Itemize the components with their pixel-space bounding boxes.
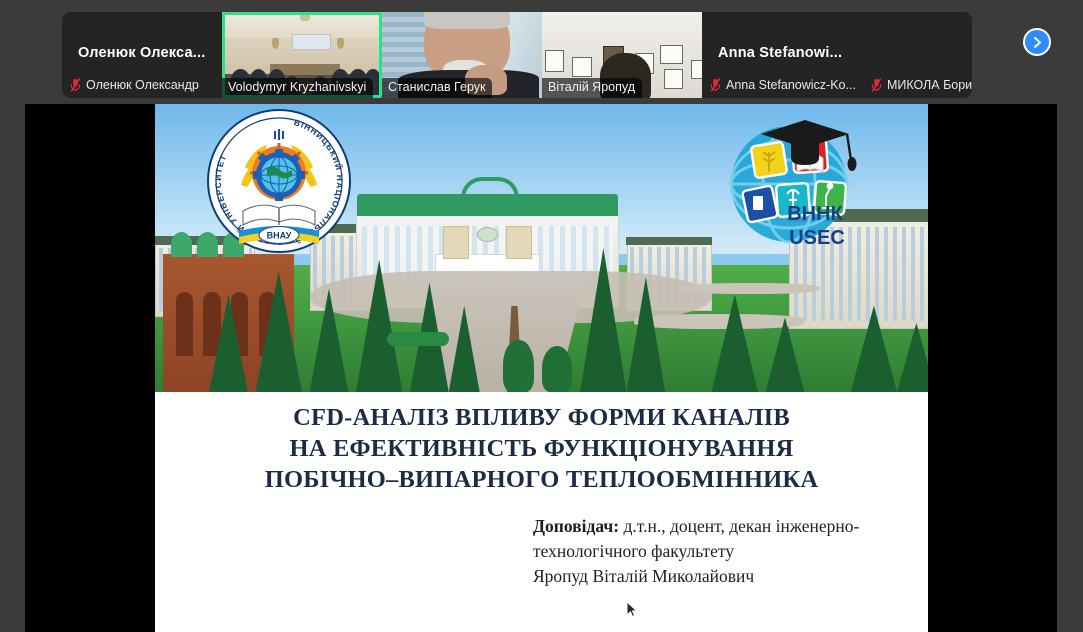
participant-tile-olenyuk[interactable]: Оленюк Олекса... Оленюк Олександр bbox=[62, 12, 222, 98]
mouse-pointer-icon bbox=[626, 601, 638, 619]
participant-large-name: Anna Stefanowi... bbox=[718, 45, 842, 61]
participant-tile-yaropud[interactable]: Віталій Яропуд bbox=[542, 12, 702, 98]
vnau-university-seal-logo: ВІННИЦЬКИЙ НАЦІОНАЛЬНИЙ АГРАРНИЙ УНІВЕРС… bbox=[205, 107, 353, 255]
participant-name-label: Станислав Герук bbox=[382, 78, 492, 98]
participant-name-text: Станислав Герук bbox=[388, 80, 485, 95]
slide-speaker-block: Доповідач: д.т.н., доцент, декан інженер… bbox=[533, 514, 917, 589]
shared-screen-stage[interactable]: ВІННИЦЬКИЙ НАЦІОНАЛЬНИЙ АГРАРНИЙ УНІВЕРС… bbox=[25, 104, 1057, 632]
microphone-muted-icon bbox=[70, 78, 81, 92]
participant-name-text: Віталій Яропуд bbox=[548, 80, 635, 95]
filmstrip-next-page-button[interactable] bbox=[1023, 28, 1051, 56]
participant-filmstrip[interactable]: Оленюк Олекса... Оленюк Олександр bbox=[62, 12, 972, 98]
participant-large-name: Оленюк Олекса... bbox=[78, 45, 205, 61]
participant-name-label: Volodymyr Kryzhanivskyi bbox=[222, 78, 373, 98]
slide-text-area: CFD-АНАЛІЗ ВПЛИВУ ФОРМИ КАНАЛІВ НА ЕФЕКТ… bbox=[155, 392, 928, 632]
zoom-meeting-window: Оленюк Олекса... Оленюк Олександр bbox=[0, 0, 1083, 632]
vnnk-logo-text-1: ВННК bbox=[788, 203, 844, 225]
slide-hero-photo: ВІННИЦЬКИЙ НАЦІОНАЛЬНИЙ АГРАРНИЙ УНІВЕРС… bbox=[155, 104, 928, 392]
presentation-slide: ВІННИЦЬКИЙ НАЦІОНАЛЬНИЙ АГРАРНИЙ УНІВЕРС… bbox=[155, 104, 928, 632]
participant-name-text: Volodymyr Kryzhanivskyi bbox=[228, 80, 366, 95]
speaker-faculty: технологічного факультету bbox=[533, 539, 917, 564]
participant-tile-heruk[interactable]: Станислав Герук bbox=[382, 12, 542, 98]
vnnk-usec-logo: ВННК USEC bbox=[719, 104, 867, 254]
microphone-muted-icon bbox=[710, 78, 721, 92]
speaker-name: Яропуд Віталій Миколайович bbox=[533, 564, 917, 589]
participant-name-label: Anna Stefanowicz-Ko... МИКОЛА Борис bbox=[710, 78, 972, 92]
slide-title-line-3: ПОБІЧНО–ВИПАРНОГО ТЕПЛООБМІННИКА bbox=[155, 464, 928, 495]
slide-title-line-1: CFD-АНАЛІЗ ВПЛИВУ ФОРМИ КАНАЛІВ bbox=[155, 402, 928, 433]
svg-text:ВНАУ: ВНАУ bbox=[267, 230, 292, 240]
chevron-right-icon bbox=[1031, 36, 1044, 49]
participant-name-text: Anna Stefanowicz-Ko... bbox=[726, 78, 856, 92]
participant-tile-kryzhanivskyi[interactable]: Volodymyr Kryzhanivskyi bbox=[222, 12, 382, 98]
participant-tile-stefanowicz[interactable]: Anna Stefanowi... Anna Stefanowicz-Ko...… bbox=[702, 12, 972, 98]
speaker-label: Доповідач: bbox=[533, 516, 619, 536]
participant-name-text: МИКОЛА Борис bbox=[887, 78, 972, 92]
usec-logo-text-2: USEC bbox=[789, 227, 845, 249]
slide-title-line-2: НА ЕФЕКТИВНІСТЬ ФУНКЦІОНУВАННЯ bbox=[155, 433, 928, 464]
speaker-credentials: д.т.н., доцент, декан інженерно- bbox=[619, 516, 859, 536]
participant-name-label: Оленюк Олександр bbox=[70, 78, 199, 92]
slide-title: CFD-АНАЛІЗ ВПЛИВУ ФОРМИ КАНАЛІВ НА ЕФЕКТ… bbox=[155, 402, 928, 495]
participant-name-text: Оленюк Олександр bbox=[86, 78, 199, 92]
microphone-muted-icon bbox=[871, 78, 882, 92]
participant-name-label: Віталій Яропуд bbox=[542, 78, 642, 98]
